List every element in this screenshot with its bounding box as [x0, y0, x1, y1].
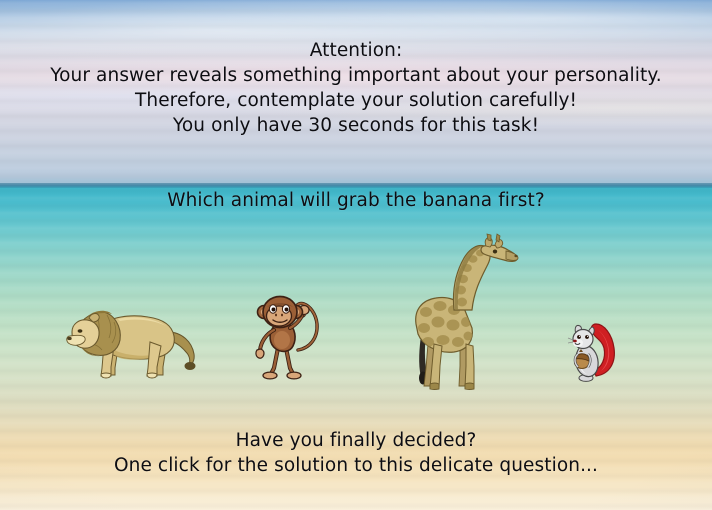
- closing-line-2: One click for the solution to this delic…: [0, 453, 712, 478]
- giraffe-icon: [416, 234, 518, 390]
- intro-line-2: Your answer reveals something important …: [0, 63, 712, 88]
- intro-text-block: Attention: Your answer reveals something…: [0, 38, 712, 138]
- closing-line-1: Have you finally decided?: [0, 428, 712, 453]
- animal-monkey[interactable]: [248, 290, 326, 380]
- closing-text-block: Have you finally decided? One click for …: [0, 428, 712, 478]
- intro-line-3: Therefore, contemplate your solution car…: [0, 88, 712, 113]
- animal-giraffe[interactable]: [400, 232, 528, 392]
- question-text: Which animal will grab the banana first?: [0, 190, 712, 211]
- animal-squirrel[interactable]: [566, 318, 618, 386]
- intro-line-4: You only have 30 seconds for this task!: [0, 113, 712, 138]
- squirrel-icon: [568, 324, 614, 381]
- animal-lion[interactable]: [62, 296, 202, 382]
- lion-icon: [67, 311, 196, 378]
- intro-line-1: Attention:: [0, 38, 712, 63]
- slide-canvas[interactable]: Attention: Your answer reveals something…: [0, 0, 712, 510]
- monkey-icon: [256, 297, 317, 379]
